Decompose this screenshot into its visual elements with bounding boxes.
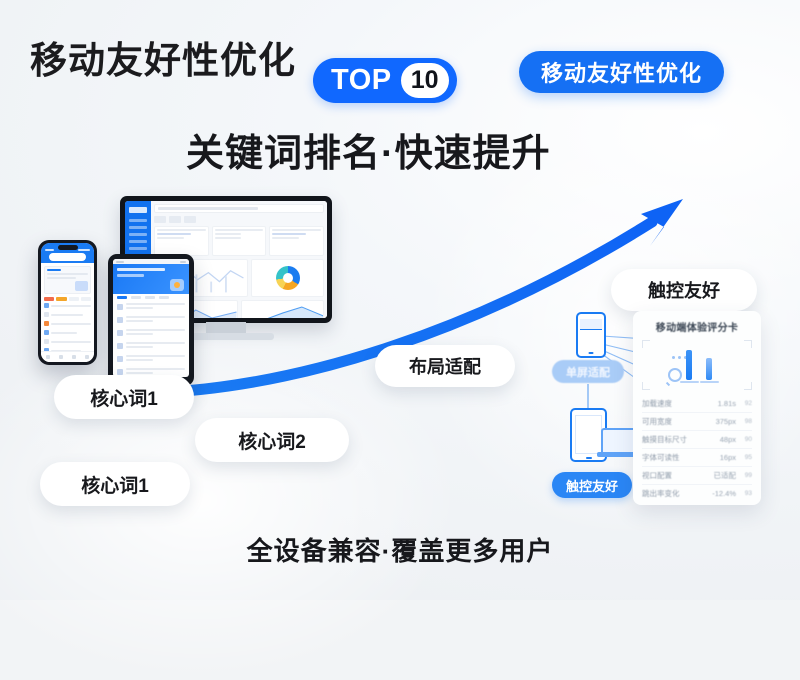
table-row: 加载速度 1.81s 92 xyxy=(642,395,752,412)
scorecard-illustration xyxy=(642,340,752,390)
poster-canvas: 移动友好性优化 TOP 10 移动友好性优化 关键词排名·快速提升 xyxy=(0,0,800,600)
row-score: 90 xyxy=(736,436,752,443)
tablet-result-list xyxy=(113,301,189,377)
table-row: 视口配置 已适配 99 xyxy=(642,466,752,484)
row-value: 1.81s xyxy=(710,399,736,408)
header-tag-pill[interactable]: 移动友好性优化 xyxy=(519,51,724,93)
phone-tab-bar[interactable] xyxy=(41,351,94,362)
smartphone-device-icon xyxy=(38,240,97,365)
row-label: 字体可读性 xyxy=(642,452,710,463)
row-score: 93 xyxy=(736,490,752,497)
table-row: 字体可读性 16px 95 xyxy=(642,448,752,466)
feature-pill-layout[interactable]: 布局适配 xyxy=(375,345,515,387)
page-subtitle: 关键词排名·快速提升 xyxy=(186,122,551,177)
row-value: 16px xyxy=(710,453,736,462)
row-label: 跳出率变化 xyxy=(642,488,710,499)
phone-search-input[interactable] xyxy=(49,253,86,261)
row-value: 375px xyxy=(710,417,736,426)
tablet-promo-banner xyxy=(113,264,189,294)
row-label: 可用宽度 xyxy=(642,416,710,427)
row-score: 92 xyxy=(736,400,752,407)
top-rank-badge: TOP 10 xyxy=(313,58,457,103)
tablet-device-icon xyxy=(108,254,194,386)
keyword-pill-2[interactable]: 核心词2 xyxy=(195,418,349,462)
row-value: 48px xyxy=(710,435,736,444)
table-row: 触摸目标尺寸 48px 90 xyxy=(642,430,752,448)
table-row: 可用宽度 375px 98 xyxy=(642,412,752,430)
row-value: 已适配 xyxy=(710,470,736,481)
monitor-area-chart-right xyxy=(241,300,325,318)
magnifier-icon xyxy=(668,368,682,382)
row-label: 视口配置 xyxy=(642,470,710,481)
row-label: 触摸目标尺寸 xyxy=(642,434,710,445)
diagram-pill-touch-friendly: 触控友好 xyxy=(552,472,632,498)
page-title: 移动友好性优化 xyxy=(30,30,296,84)
phone-filter-chips[interactable] xyxy=(41,297,94,301)
diagram-pill-single-screen: 单屏适配 xyxy=(552,360,624,383)
scorecard-table: 加载速度 1.81s 92 可用宽度 375px 98 触摸目标尺寸 48px … xyxy=(642,395,752,502)
top-badge-word: TOP xyxy=(331,66,392,95)
phone-portrait-icon xyxy=(576,312,606,358)
table-row: 跳出率变化 -12.4% 93 xyxy=(642,484,752,502)
scorecard-title: 移动端体验评分卡 xyxy=(642,319,752,334)
keyword-pill-3[interactable]: 核心词1 xyxy=(40,462,190,506)
mobile-experience-scorecard: 移动端体验评分卡 加载速度 1.81s 92 可用宽度 375px 98 触摸目… xyxy=(633,311,761,505)
top-badge-number: 10 xyxy=(401,63,449,98)
monitor-donut-chart xyxy=(251,259,324,297)
row-label: 加载速度 xyxy=(642,398,710,409)
keyword-pill-1[interactable]: 核心词1 xyxy=(54,375,194,419)
footer-tagline: 全设备兼容·覆盖更多用户 xyxy=(0,531,800,568)
laptop-icon xyxy=(597,428,633,460)
phone-notch xyxy=(58,245,78,250)
row-score: 99 xyxy=(736,472,752,479)
row-score: 98 xyxy=(736,418,752,425)
phone-featured-result xyxy=(44,266,91,294)
row-score: 95 xyxy=(736,454,752,461)
row-value: -12.4% xyxy=(710,489,736,498)
device-cluster xyxy=(30,196,330,396)
